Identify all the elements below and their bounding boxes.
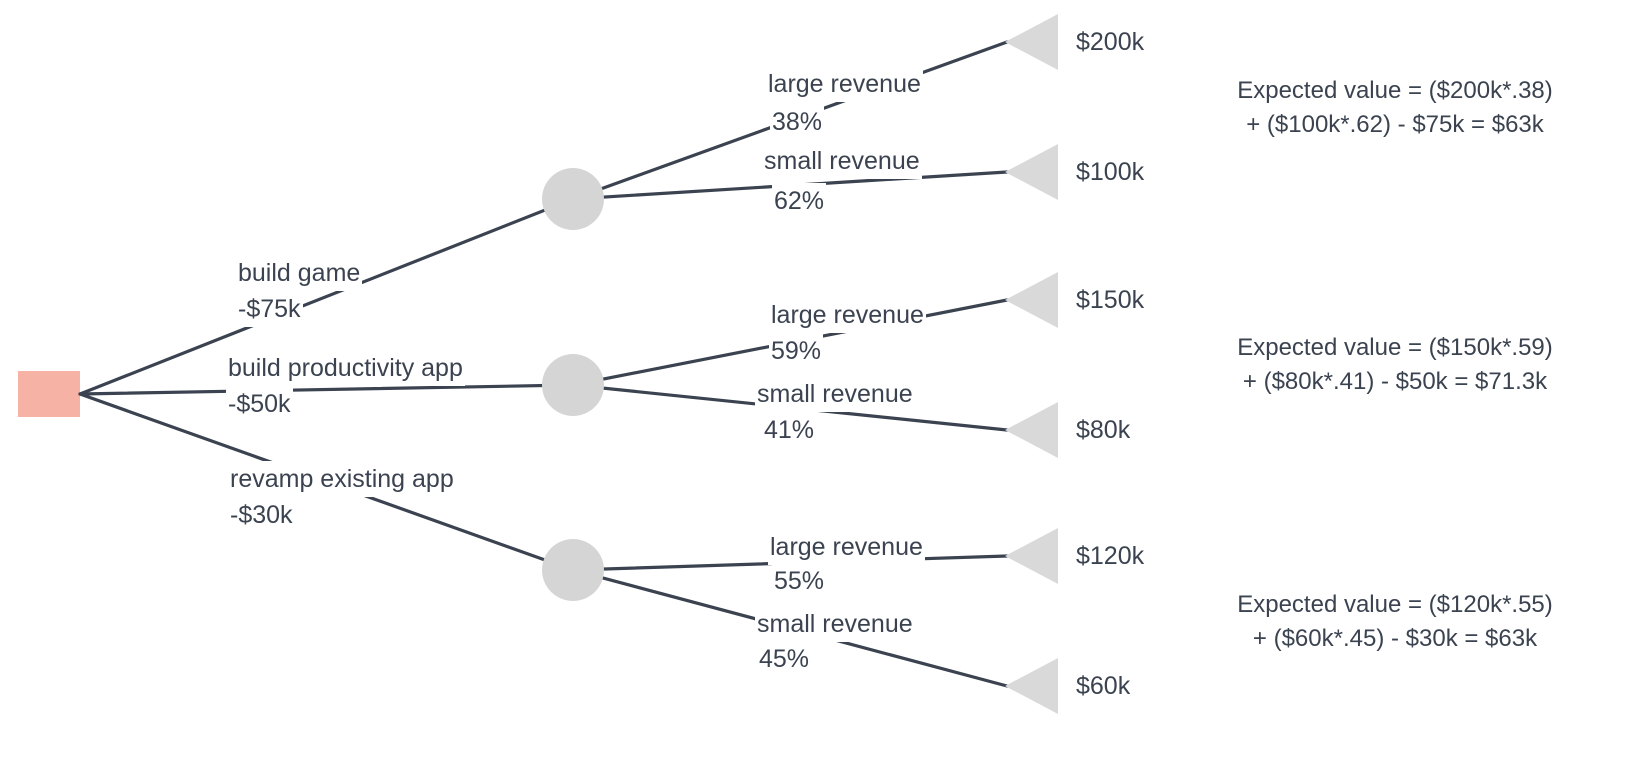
terminal-node-60k[interactable] [1005, 658, 1058, 714]
terminal-node-80k[interactable] [1005, 402, 1058, 458]
payoff-build-game-large-revenue: $200k [1076, 27, 1144, 57]
branch-label-build-game: build game [236, 255, 362, 291]
payoff-build-productivity-app-small-revenue: $80k [1076, 415, 1130, 445]
outcome-label-build-game-large-revenue: large revenue [766, 66, 923, 102]
terminal-node-150k[interactable] [1005, 272, 1058, 328]
expected-value-build-productivity-app: Expected value = ($150k*.59) + ($80k*.41… [1195, 331, 1595, 399]
outcome-probability-build-game-small-revenue: 62% [772, 183, 826, 219]
decision-tree-canvas: build game -$75k build productivity app … [0, 0, 1631, 761]
terminal-node-120k[interactable] [1005, 528, 1058, 584]
outcome-probability-build-game-large-revenue: 38% [770, 104, 824, 140]
chance-node-build-game[interactable] [542, 168, 604, 230]
outcome-probability-build-productivity-app-large-revenue: 59% [769, 333, 823, 369]
chance-node-revamp-existing-app[interactable] [542, 539, 604, 601]
chance-node-build-productivity-app[interactable] [542, 354, 604, 416]
expected-value-revamp-existing-app-line1: Expected value = ($120k*.55) [1195, 588, 1595, 622]
outcome-label-revamp-existing-app-small-revenue: small revenue [755, 606, 915, 642]
payoff-revamp-existing-app-small-revenue: $60k [1076, 671, 1130, 701]
payoff-revamp-existing-app-large-revenue: $120k [1076, 541, 1144, 571]
expected-value-build-game: Expected value = ($200k*.38) + ($100k*.6… [1195, 74, 1595, 142]
branch-cost-revamp-existing-app: -$30k [228, 497, 295, 533]
terminal-node-100k[interactable] [1005, 144, 1058, 200]
branch-label-revamp-existing-app: revamp existing app [228, 461, 456, 497]
terminal-node-200k[interactable] [1005, 14, 1058, 70]
expected-value-revamp-existing-app-line2: + ($60k*.45) - $30k = $63k [1195, 622, 1595, 656]
outcome-label-build-game-small-revenue: small revenue [762, 143, 922, 179]
root-decision-node[interactable] [18, 371, 80, 417]
edge-root-to-build-productivity-app [80, 385, 573, 394]
outcome-probability-revamp-existing-app-large-revenue: 55% [772, 563, 826, 599]
branch-cost-build-game: -$75k [236, 291, 303, 327]
outcome-label-revamp-existing-app-large-revenue: large revenue [768, 529, 925, 565]
expected-value-build-productivity-app-line1: Expected value = ($150k*.59) [1195, 331, 1595, 365]
payoff-build-productivity-app-large-revenue: $150k [1076, 285, 1144, 315]
expected-value-build-game-line2: + ($100k*.62) - $75k = $63k [1195, 108, 1595, 142]
expected-value-revamp-existing-app: Expected value = ($120k*.55) + ($60k*.45… [1195, 588, 1595, 656]
outcome-label-build-productivity-app-small-revenue: small revenue [755, 376, 915, 412]
payoff-build-game-small-revenue: $100k [1076, 157, 1144, 187]
branch-label-build-productivity-app: build productivity app [226, 350, 465, 386]
outcome-probability-revamp-existing-app-small-revenue: 45% [757, 641, 811, 677]
outcome-label-build-productivity-app-large-revenue: large revenue [769, 297, 926, 333]
outcome-probability-build-productivity-app-small-revenue: 41% [762, 412, 816, 448]
expected-value-build-productivity-app-line2: + ($80k*.41) - $50k = $71.3k [1195, 365, 1595, 399]
expected-value-build-game-line1: Expected value = ($200k*.38) [1195, 74, 1595, 108]
branch-cost-build-productivity-app: -$50k [226, 386, 293, 422]
